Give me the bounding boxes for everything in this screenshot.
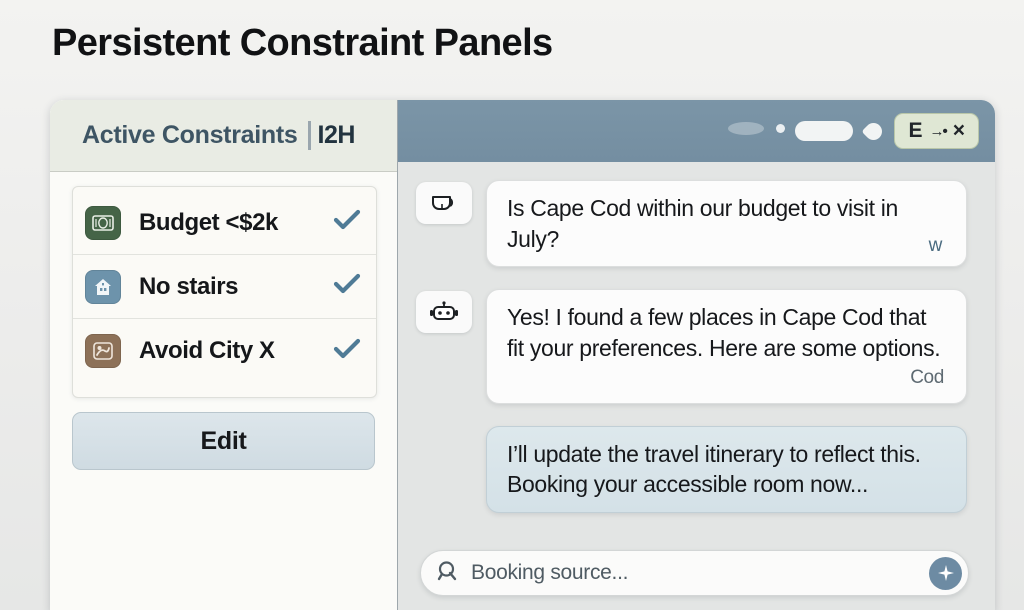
check-icon xyxy=(332,209,362,236)
constraint-row-budget[interactable]: Budget <$2k xyxy=(73,191,376,255)
constraint-row-avoid-city[interactable]: Avoid City X xyxy=(73,319,376,383)
search-icon xyxy=(437,560,459,587)
search-input[interactable]: Booking source... xyxy=(471,561,929,585)
city-block-icon xyxy=(85,334,121,368)
export-badge[interactable]: E →• × xyxy=(894,113,979,149)
edit-constraints-button[interactable]: Edit xyxy=(72,412,375,470)
chat-message-assistant: Yes! I found a few places in Cape Cod th… xyxy=(416,289,967,403)
chat-bubble-text: I’ll update the travel itinerary to refl… xyxy=(507,441,921,498)
constraint-label: Budget <$2k xyxy=(139,209,332,237)
chat-bubble: Yes! I found a few places in Cape Cod th… xyxy=(486,289,967,403)
handwritten-mark: w xyxy=(929,233,942,258)
chat-bubble-text: Is Cape Cod within our budget to visit i… xyxy=(507,195,898,252)
topbar-smudge-mark xyxy=(728,122,764,135)
topbar-dot-icon xyxy=(776,124,785,133)
chat-panel: E →• × Is Cape Cod within our budget to … xyxy=(398,100,995,610)
cup-icon xyxy=(416,182,472,224)
arrow-icon: →• xyxy=(929,123,945,140)
page-title: Persistent Constraint Panels xyxy=(52,22,553,65)
constraints-list: Budget <$2k No stairs xyxy=(72,186,377,398)
chat-bubble-tag: Cod xyxy=(507,365,944,390)
constraints-panel-empty-area xyxy=(50,470,397,610)
house-icon xyxy=(85,270,121,304)
check-icon xyxy=(332,338,362,365)
constraint-label: No stairs xyxy=(139,273,332,301)
constraint-row-no-stairs[interactable]: No stairs xyxy=(73,255,376,319)
app-window: Active Constraints I2H Budget <$2k xyxy=(50,100,995,610)
export-badge-left: E xyxy=(908,119,922,143)
check-icon xyxy=(332,273,362,300)
chat-message-user: Is Cape Cod within our budget to visit i… xyxy=(416,180,967,267)
chat-bubble: Is Cape Cod within our budget to visit i… xyxy=(486,180,967,267)
chat-message-list: Is Cape Cod within our budget to visit i… xyxy=(398,162,995,550)
chat-input-bar[interactable]: Booking source... xyxy=(420,550,969,596)
close-icon: × xyxy=(953,119,965,143)
constraints-panel-badge: I2H xyxy=(308,121,355,150)
constraints-panel-header: Active Constraints I2H xyxy=(50,100,397,172)
constraints-panel: Active Constraints I2H Budget <$2k xyxy=(50,100,398,610)
constraints-panel-title: Active Constraints xyxy=(82,121,298,150)
diamond-shape-icon[interactable] xyxy=(862,119,886,143)
chat-message-assistant-action: I’ll update the travel itinerary to refl… xyxy=(416,426,967,513)
chat-bubble-text: Yes! I found a few places in Cape Cod th… xyxy=(507,304,940,361)
chat-topbar: E →• × xyxy=(398,100,995,162)
chat-bubble-action: I’ll update the travel itinerary to refl… xyxy=(486,426,967,513)
constraint-label: Avoid City X xyxy=(139,337,332,365)
money-bill-icon xyxy=(85,206,121,240)
pill-shape-icon[interactable] xyxy=(795,121,853,141)
robot-icon xyxy=(416,291,472,333)
sparkle-send-icon[interactable] xyxy=(929,557,962,590)
